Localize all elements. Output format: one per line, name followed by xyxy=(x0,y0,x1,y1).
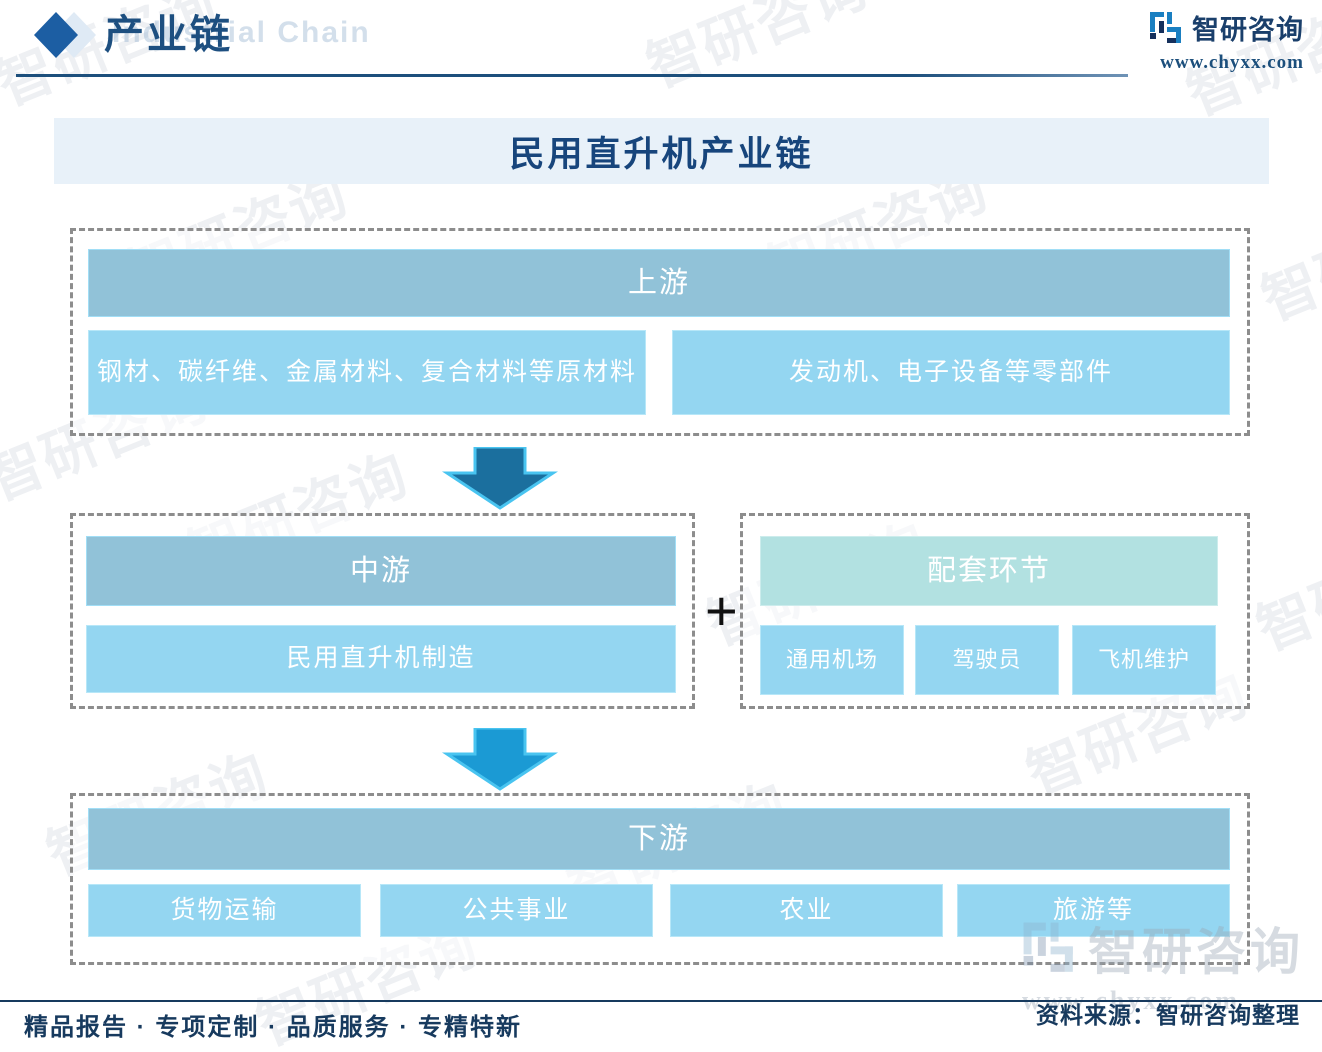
arrow-down-upstream-to-midstream xyxy=(441,447,559,510)
chart-title-band: 民用直升机产业链 xyxy=(54,118,1269,184)
footer-slogan: 精品报告 · 专项定制 · 品质服务 · 专精特新 xyxy=(24,1007,522,1042)
header-divider xyxy=(16,74,1128,77)
brand-block: 智研咨询 www.chyxx.com xyxy=(1149,8,1304,74)
page-header: Industrial Chain 产业链 智研咨询 www.chyxx.com xyxy=(0,0,1322,92)
plus-symbol: + xyxy=(705,583,738,639)
downstream-group xyxy=(70,793,1250,965)
page-title: 产业链 xyxy=(104,2,233,60)
source-note: 资料来源：智研咨询整理 xyxy=(1036,996,1300,1030)
support-group xyxy=(740,513,1250,709)
zhiyan-logo-icon xyxy=(1149,11,1183,45)
upstream-group xyxy=(70,228,1250,436)
brand-name: 智研咨询 xyxy=(1192,8,1304,47)
brand-url[interactable]: www.chyxx.com xyxy=(1149,52,1304,74)
background-watermark: 智研咨询 xyxy=(1243,504,1322,666)
arrow-down-midstream-to-downstream xyxy=(441,728,559,791)
chart-title: 民用直升机产业链 xyxy=(509,126,813,177)
midstream-group xyxy=(70,513,695,709)
diamond-icon xyxy=(30,8,100,64)
background-watermark: 智研咨询 xyxy=(1248,174,1322,336)
